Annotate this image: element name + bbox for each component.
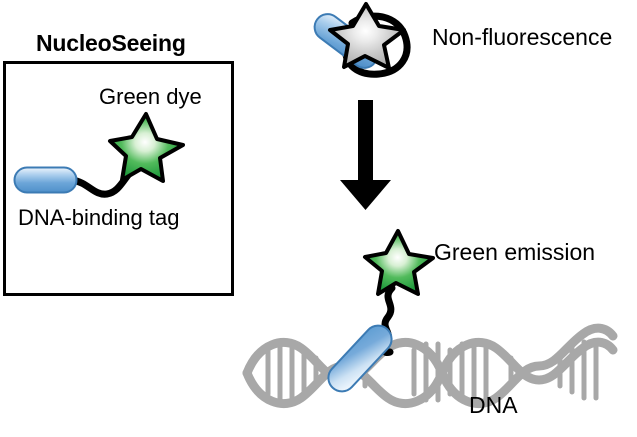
transition-arrow [340,100,391,210]
bound-dna-binding-tag-capsule [323,320,397,397]
green-dye-label: Green dye [99,84,202,110]
panel-title: NucleoSeeing [36,30,186,57]
dna-label: DNA [469,392,518,419]
dna-binding-tag-label: DNA-binding tag [18,205,193,231]
bound-green-dye-star [365,231,433,294]
non-fluorescence-label: Non-fluorescence [432,24,612,51]
legend-dna-binding-tag-capsule [15,168,77,193]
dna-double-helix [247,328,613,403]
figure-root: NucleoSeeing Green dye DNA-binding tag N… [0,0,637,437]
green-emission-label: Green emission [434,239,595,266]
